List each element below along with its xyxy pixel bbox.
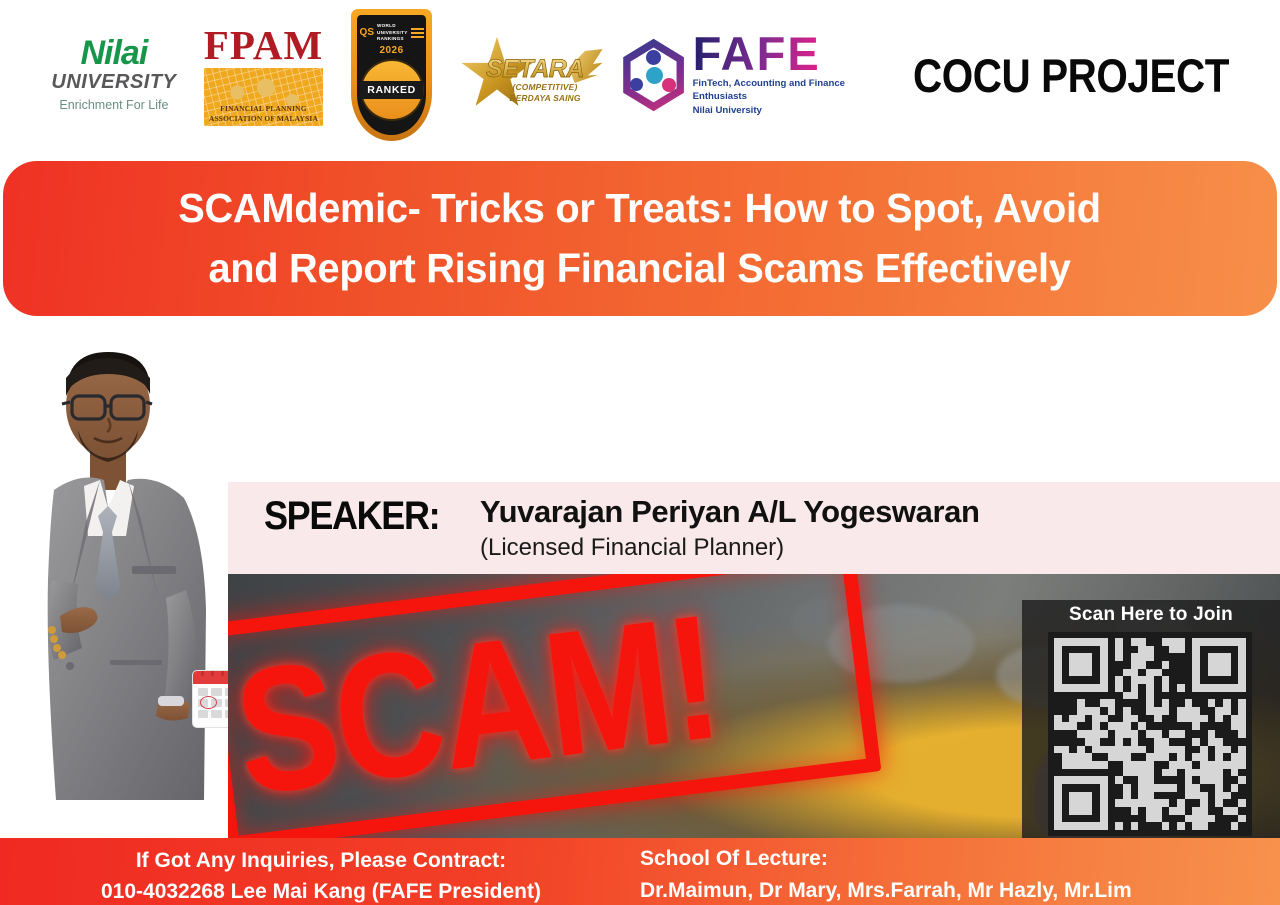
speaker-label: SPEAKER: <box>264 494 439 539</box>
event-poster: Nilai UNIVERSITY Enrichment For Life FPA… <box>0 0 1280 905</box>
fpam-subtitle-line2: ASSOCIATION OF MALAYSIA <box>204 114 323 124</box>
nilai-tagline: Enrichment For Life <box>48 95 180 115</box>
fpam-subtitle: FINANCIAL PLANNING ASSOCIATION OF MALAYS… <box>204 104 323 124</box>
qr-code[interactable] <box>1048 632 1252 836</box>
speaker-band: SPEAKER: Yuvarajan Periyan A/L Yogeswara… <box>228 482 1280 574</box>
fafe-wordmark: FAFE <box>693 32 869 77</box>
qs-brand-text: QS <box>360 27 374 38</box>
nilai-wordmark: Nilai <box>48 36 180 70</box>
qs-badge-header: QS WORLD UNIVERSITY RANKINGS <box>360 23 424 43</box>
fpam-globe-icon: FINANCIAL PLANNING ASSOCIATION OF MALAYS… <box>204 68 323 126</box>
event-title-line1: SCAMdemic- Tricks or Treats: How to Spot… <box>179 179 1102 238</box>
footer-bar: If Got Any Inquiries, Please Contract: 0… <box>0 838 1280 905</box>
footer-lecturers: School Of Lecture: Dr.Maimun, Dr Mary, M… <box>640 843 1270 905</box>
qs-oval-shape: RANKED <box>360 59 424 121</box>
qr-code-grid <box>1054 638 1246 830</box>
fafe-subtitle-line1: FinTech, Accounting and Finance Enthusia… <box>693 78 869 104</box>
nilai-university-logo: Nilai UNIVERSITY Enrichment For Life <box>48 36 180 115</box>
qr-title: Scan Here to Join <box>1022 604 1280 626</box>
title-banner: SCAMdemic- Tricks or Treats: How to Spot… <box>3 161 1277 316</box>
speaker-credential: (Licensed Financial Planner) <box>480 534 784 562</box>
event-title-line2: and Report Rising Financial Scams Effect… <box>179 239 1102 298</box>
event-info-row: 18 March 2026 Wednesday <box>0 330 1280 480</box>
scam-photo: SCAM! Scan Here to Join <box>228 574 1280 842</box>
fafe-subtitle-line2: Nilai University <box>693 105 869 118</box>
fafe-logo: FAFE FinTech, Accounting and Finance Ent… <box>621 32 869 117</box>
qs-ranked-label: RANKED <box>360 81 423 99</box>
nilai-university-text: UNIVERSITY <box>48 70 180 95</box>
event-title: SCAMdemic- Tricks or Treats: How to Spot… <box>179 179 1102 298</box>
speaker-name: Yuvarajan Periyan A/L Yogeswaran <box>480 494 980 530</box>
fpam-acronym: FPAM <box>204 25 323 66</box>
fpam-subtitle-line1: FINANCIAL PLANNING <box>204 104 323 114</box>
setara-wordmark: SETARA <box>486 57 604 82</box>
footer-lecture-names: Dr.Maimun, Dr Mary, Mrs.Farrah, Mr Hazly… <box>640 875 1270 905</box>
cocu-project-title: COCU PROJECT <box>913 48 1229 103</box>
setara-text-block: SETARA (COMPETITIVE) BERDAYA SAING <box>486 57 604 105</box>
footer-inquiries-line1: If Got Any Inquiries, Please Contract: <box>26 845 616 876</box>
qs-ranking-badge: QS WORLD UNIVERSITY RANKINGS 2026 RANKED <box>351 9 432 141</box>
qs-year: 2026 <box>379 45 403 56</box>
calendar-highlight-circle <box>200 696 217 709</box>
qr-panel: Scan Here to Join <box>1022 600 1280 842</box>
setara-malay-label: BERDAYA SAING <box>486 93 604 104</box>
qs-line-world: WORLD <box>377 23 408 30</box>
qs-line-university: UNIVERSITY <box>377 30 408 37</box>
qs-bars-icon <box>411 28 424 39</box>
fafe-node-cluster-icon <box>621 38 687 112</box>
footer-inquiries: If Got Any Inquiries, Please Contract: 0… <box>26 845 616 905</box>
fafe-text-block: FAFE FinTech, Accounting and Finance Ent… <box>693 32 869 117</box>
footer-inquiries-line2: 010-4032268 Lee Mai Kang (FAFE President… <box>26 876 616 905</box>
qs-ranking-lines: WORLD UNIVERSITY RANKINGS <box>377 23 408 43</box>
footer-lecture-label: School Of Lecture: <box>640 843 1270 875</box>
logo-strip: Nilai UNIVERSITY Enrichment For Life FPA… <box>0 0 1280 150</box>
qs-line-rankings: RANKINGS <box>377 36 408 43</box>
fafe-hexagon-icon <box>621 38 687 112</box>
setara-competitive-label: (COMPETITIVE) <box>486 82 604 93</box>
fpam-logo: FPAM FINANCIAL PLANNING ASSOCIATION OF M… <box>204 25 323 126</box>
setara-logo: SETARA (COMPETITIVE) BERDAYA SAING <box>458 27 599 123</box>
qs-badge-inner: QS WORLD UNIVERSITY RANKINGS 2026 RANKED <box>357 15 426 135</box>
